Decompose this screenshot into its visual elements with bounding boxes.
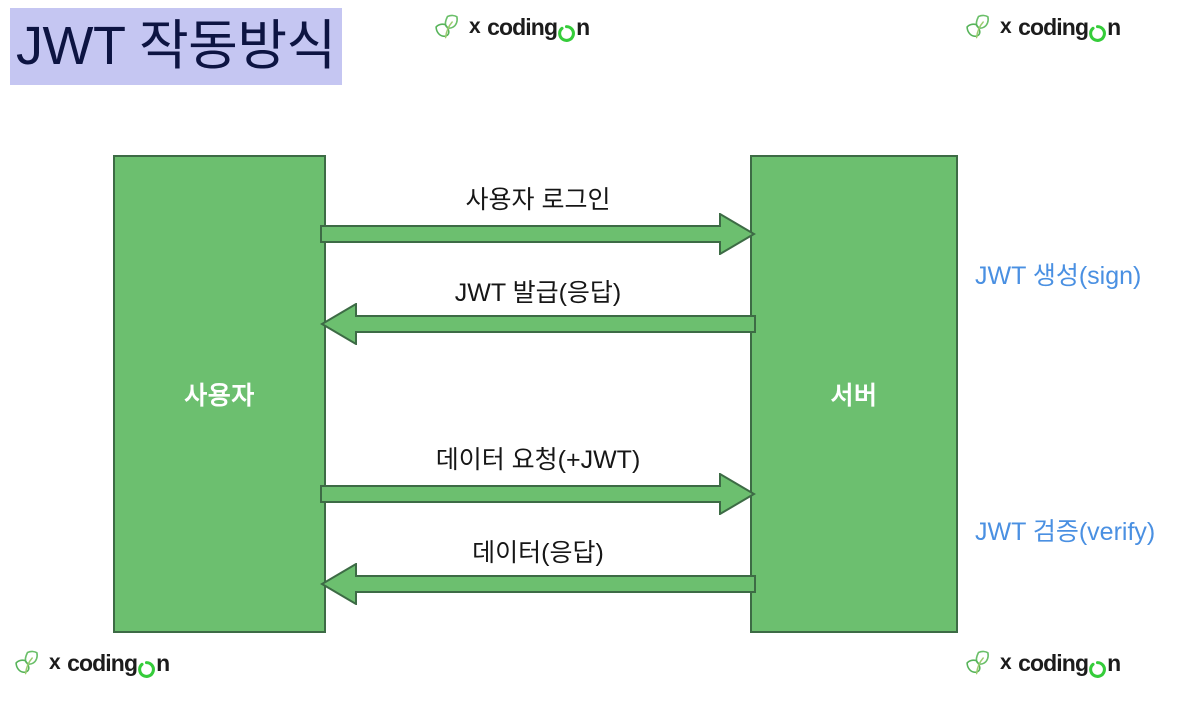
logo-wordmark: xcodingn [1000,650,1120,677]
lane-user: 사용자 [113,155,326,633]
brand-logo-top-right: xcodingn [963,12,1120,42]
logo-word-a: c [1018,650,1030,677]
brand-logo-top-center: xcodingn [432,12,589,42]
sprout-leaf-icon [432,12,462,42]
sprout-leaf-icon [963,648,993,678]
logo-word-c: n [1107,650,1120,677]
side-note-sign: JWT 생성(sign) [975,256,1141,292]
lane-server-label: 서버 [830,376,877,412]
logo-word-b: oding [79,650,137,677]
logo-word-b: oding [1030,650,1088,677]
page-title: JWT 작동방식 [10,8,342,85]
logo-word-a: c [67,650,79,677]
arrow-data-request-right [320,473,756,515]
brand-logo-bottom-left: xcodingn [12,648,169,678]
logo-prefix-x: x [1000,15,1011,39]
arrow-login-right [320,213,756,255]
logo-word-b: oding [1030,14,1088,41]
logo-wordmark: xcodingn [469,14,589,41]
arrow-issue-jwt-left [314,303,756,345]
green-ring-o-icon [138,657,155,674]
logo-word-c: n [576,14,589,41]
page-title-text: JWT 작동방식 [10,8,342,85]
logo-wordmark: xcodingn [49,650,169,677]
side-note-verify: JWT 검증(verify) [975,512,1155,548]
logo-prefix-x: x [1000,651,1011,675]
arrow-data-response-left [314,563,756,605]
logo-prefix-x: x [469,15,480,39]
logo-word-a: c [1018,14,1030,41]
sprout-leaf-icon [963,12,993,42]
brand-logo-bottom-right: xcodingn [963,648,1120,678]
green-ring-o-icon [558,21,575,38]
slide-canvas: JWT 작동방식 xcodingn xcodingn [0,0,1203,705]
green-ring-o-icon [1089,657,1106,674]
lane-user-label: 사용자 [184,376,255,412]
logo-wordmark: xcodingn [1000,14,1120,41]
message-label-data-request: 데이터 요청(+JWT) [326,440,750,476]
green-ring-o-icon [1089,21,1106,38]
message-label-login: 사용자 로그인 [326,180,750,216]
logo-word-c: n [156,650,169,677]
logo-word-a: c [487,14,499,41]
logo-prefix-x: x [49,651,60,675]
lane-server: 서버 [750,155,958,633]
logo-word-b: oding [499,14,557,41]
logo-word-c: n [1107,14,1120,41]
sprout-leaf-icon [12,648,42,678]
